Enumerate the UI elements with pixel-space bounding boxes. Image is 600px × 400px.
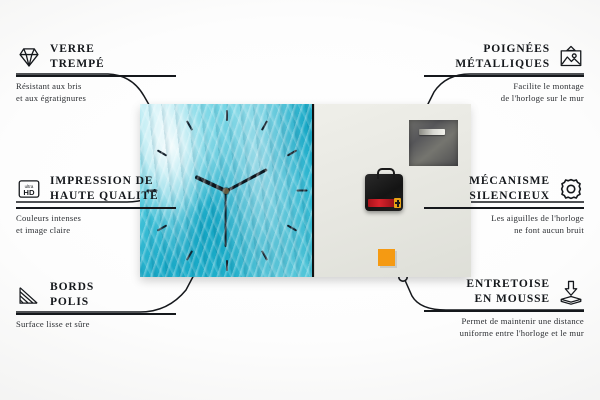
diamond-icon <box>16 44 42 70</box>
clock-tick <box>186 250 193 261</box>
feature-subtitle-line1: Facilite le montage <box>369 81 584 93</box>
clock-tick <box>297 190 308 192</box>
feature-title-line1: MÉCANISME <box>469 174 550 189</box>
feature-title-line1: POIGNÉES <box>455 42 550 57</box>
feature-divider <box>16 207 176 209</box>
feature-title-line2: TREMPÉ <box>50 57 105 72</box>
feature-subtitle-line1: Les aiguilles de l'horloge <box>369 213 584 225</box>
feature-mecanisme-silencieux: MÉCANISME SILENCIEUX Les aiguilles de l'… <box>369 174 584 236</box>
clock-tick <box>186 120 193 131</box>
feature-title-line2: MÉTALLIQUES <box>455 57 550 72</box>
infographic-canvas: VERRE TREMPÉ Résistant aux bris et aux é… <box>0 0 600 400</box>
clock-minute-hand <box>225 168 267 192</box>
feature-title-line2: HAUTE QUALITÉ <box>50 189 159 204</box>
clock-tick <box>261 250 268 261</box>
feature-subtitle-line2: et aux égratignures <box>16 93 231 105</box>
feature-verre-trempe: VERRE TREMPÉ Résistant aux bris et aux é… <box>16 42 231 104</box>
feature-title-line1: VERRE <box>50 42 105 57</box>
feature-title-line1: BORDS <box>50 280 94 295</box>
feature-subtitle-line2: ne font aucun bruit <box>369 225 584 237</box>
clock-tick <box>226 110 228 121</box>
feature-title-line1: IMPRESSION DE <box>50 174 159 189</box>
clock-tick <box>157 149 168 156</box>
clock-tick <box>226 260 228 271</box>
feature-impression-haute-qualite: ultra HD IMPRESSION DE HAUTE QUALITÉ Cou… <box>16 174 231 236</box>
gear-icon <box>558 176 584 202</box>
feature-subtitle-line1: Surface lisse et sûre <box>16 319 231 331</box>
feature-bords-polis: BORDS POLIS Surface lisse et sûre <box>16 280 231 331</box>
foam-spacer-icon <box>558 279 584 305</box>
feature-poignees-metalliques: POIGNÉES MÉTALLIQUES Facilite le montage… <box>369 42 584 104</box>
feature-title-line1: ENTRETOISE <box>466 277 550 292</box>
feature-title-line2: SILENCIEUX <box>469 189 550 204</box>
clock-tick <box>287 149 298 156</box>
feature-divider <box>424 207 584 209</box>
feature-subtitle-line1: Permet de maintenir une distance <box>369 316 584 328</box>
feature-entretoise-en-mousse: ENTRETOISE EN MOUSSE Permet de maintenir… <box>369 277 584 339</box>
ultra-hd-icon: ultra HD <box>16 176 42 202</box>
feature-title-line2: POLIS <box>50 295 94 310</box>
svg-text:HD: HD <box>23 188 35 197</box>
feature-subtitle-line1: Résistant aux bris <box>16 81 231 93</box>
feature-subtitle-line2: de l'horloge sur le mur <box>369 93 584 105</box>
feature-subtitle-line2: et image claire <box>16 225 231 237</box>
handle-slot <box>419 129 445 135</box>
foam-spacer <box>378 249 395 266</box>
feature-subtitle-line2: uniforme entre l'horloge et le mur <box>369 328 584 340</box>
picture-frame-icon <box>558 44 584 70</box>
feature-subtitle-line1: Couleurs intenses <box>16 213 231 225</box>
clock-tick <box>287 224 298 231</box>
polished-edge-icon <box>16 282 42 308</box>
feature-title-line2: EN MOUSSE <box>466 292 550 307</box>
feature-divider <box>16 75 176 77</box>
feature-divider <box>16 313 176 315</box>
feature-divider <box>424 310 584 312</box>
clock-tick <box>261 120 268 131</box>
metal-handle-plate <box>409 120 458 166</box>
feature-divider <box>424 75 584 77</box>
